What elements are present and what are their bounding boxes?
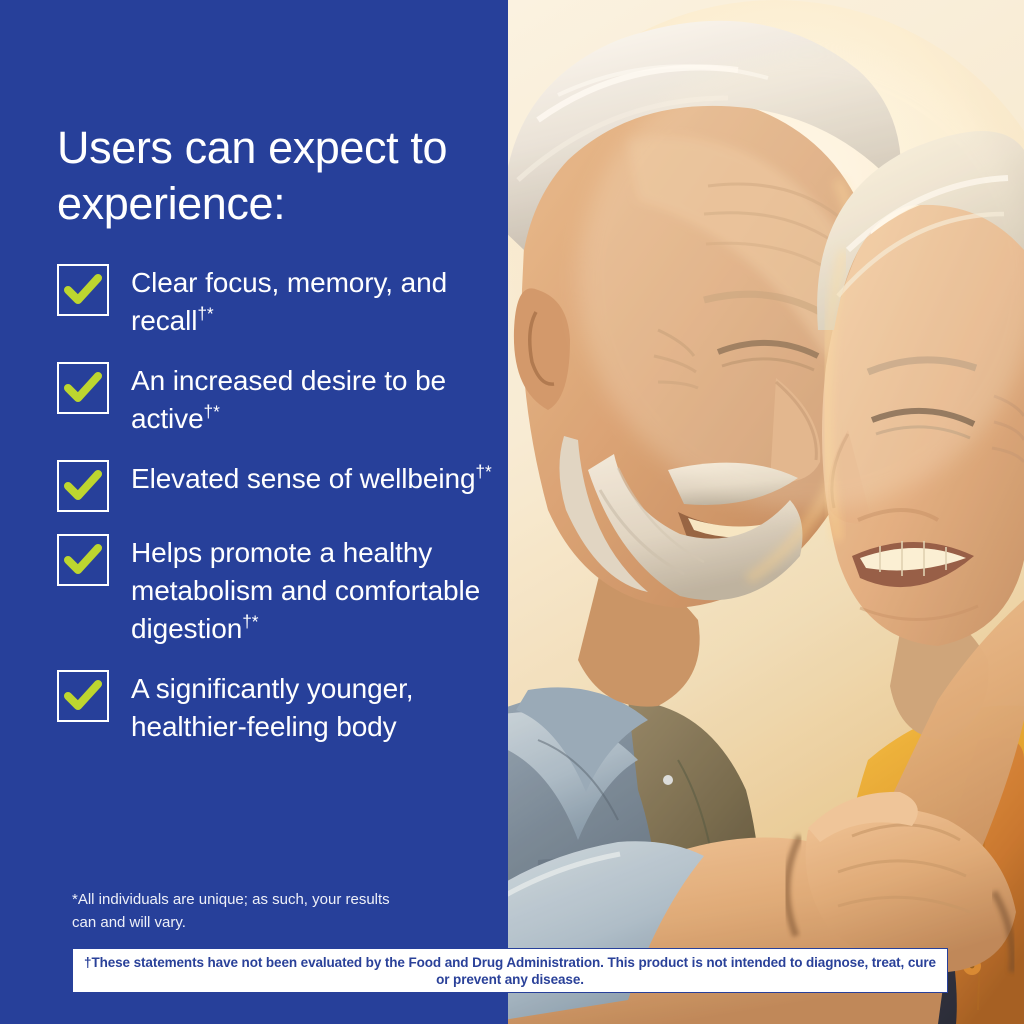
advertisement-creative: Users can expect to experience: Clear fo… bbox=[0, 0, 1024, 1024]
footnote-marker: †* bbox=[204, 402, 220, 422]
list-item-text: An increased desire to be active bbox=[131, 365, 446, 434]
results-vary-fineprint: *All individuals are unique; as such, yo… bbox=[72, 888, 402, 934]
checkbox-outline bbox=[57, 362, 109, 414]
photo-illustration bbox=[508, 0, 1024, 1024]
page-title: Users can expect to experience: bbox=[57, 120, 487, 232]
footnote-marker: †* bbox=[475, 462, 491, 482]
checkbox-outline bbox=[57, 264, 109, 316]
list-item-label: Elevated sense of wellbeing†* bbox=[131, 458, 492, 498]
couple-photo bbox=[508, 0, 1024, 1024]
list-item: Helps promote a healthy metabolism and c… bbox=[57, 532, 502, 648]
list-item-label: Helps promote a healthy metabolism and c… bbox=[131, 532, 502, 648]
list-item: A significantly younger, healthier-feeli… bbox=[57, 668, 502, 746]
checkbox-outline bbox=[57, 460, 109, 512]
blue-content-panel: Users can expect to experience: Clear fo… bbox=[0, 0, 508, 1024]
benefits-list: Clear focus, memory, and recall†* An inc… bbox=[57, 262, 502, 766]
checkbox-outline bbox=[57, 534, 109, 586]
list-item-text: Elevated sense of wellbeing bbox=[131, 463, 475, 494]
list-item: Clear focus, memory, and recall†* bbox=[57, 262, 502, 340]
fda-disclaimer-text: †These statements have not been evaluate… bbox=[73, 954, 947, 988]
list-item-label: Clear focus, memory, and recall†* bbox=[131, 262, 502, 340]
list-item: Elevated sense of wellbeing†* bbox=[57, 458, 502, 512]
list-item-label: An increased desire to be active†* bbox=[131, 360, 502, 438]
footnote-marker: †* bbox=[197, 304, 213, 324]
checkmark-icon bbox=[63, 270, 103, 310]
checkbox-outline bbox=[57, 670, 109, 722]
list-item: An increased desire to be active†* bbox=[57, 360, 502, 438]
fda-disclaimer-bar: †These statements have not been evaluate… bbox=[72, 948, 948, 993]
list-item-text: A significantly younger, healthier-feeli… bbox=[131, 673, 413, 742]
checkmark-icon bbox=[63, 540, 103, 580]
list-item-text: Clear focus, memory, and recall bbox=[131, 267, 447, 336]
list-item-label: A significantly younger, healthier-feeli… bbox=[131, 668, 502, 746]
checkmark-icon bbox=[63, 466, 103, 506]
checkmark-icon bbox=[63, 676, 103, 716]
footnote-marker: †* bbox=[242, 612, 258, 632]
list-item-text: Helps promote a healthy metabolism and c… bbox=[131, 537, 480, 644]
checkmark-icon bbox=[63, 368, 103, 408]
